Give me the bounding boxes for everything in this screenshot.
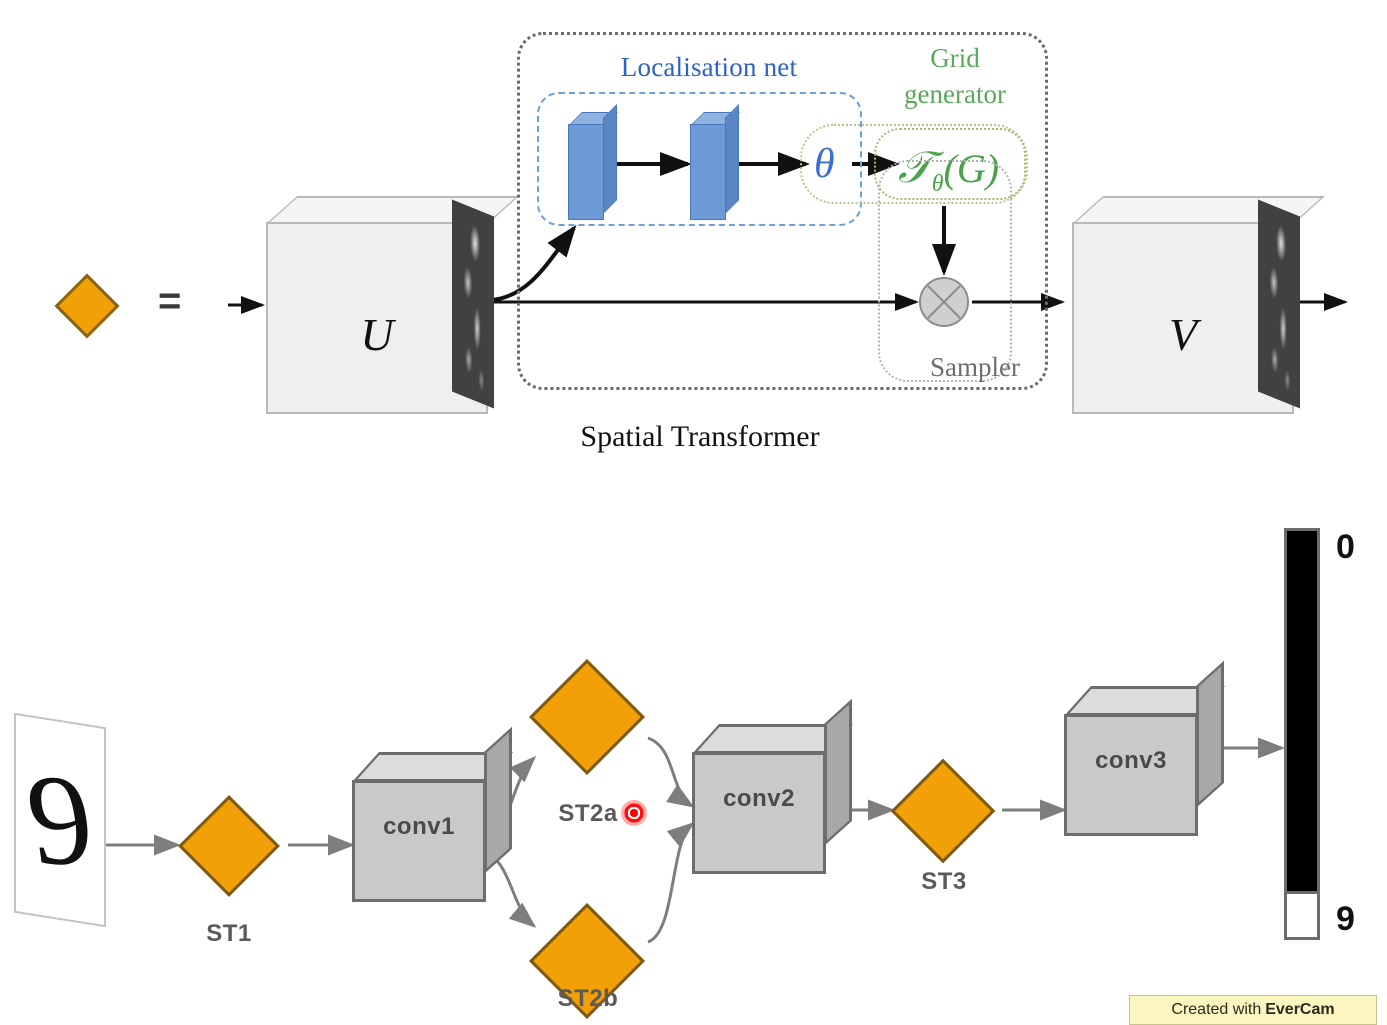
class-probability-bar	[1284, 528, 1320, 940]
node-st2a-label: ST2a	[545, 800, 631, 828]
grid-generator-title-line1: Grid	[880, 40, 1030, 76]
spatial-transformer-figure: = U	[0, 0, 1387, 480]
watermark-brand: EverCam	[1265, 1001, 1334, 1019]
multiply-circle-icon	[919, 277, 969, 327]
sampler-boundary	[878, 160, 1012, 382]
v-feature-map-side-face	[1258, 200, 1300, 409]
theta-symbol: θ	[814, 140, 835, 188]
localisation-conv-block-2	[690, 112, 726, 220]
node-conv2-cube[interactable]: conv2	[692, 724, 852, 874]
node-conv1-label: conv1	[352, 752, 486, 902]
grid-generator-title: Grid generator	[880, 40, 1030, 112]
block-side-face	[603, 104, 617, 214]
class-bar-top-label: 0	[1336, 528, 1355, 567]
localisation-net-title: Localisation net	[594, 52, 824, 83]
block-front-face	[568, 124, 604, 220]
network-pipeline-figure: 9 ST1 conv1 ST2a	[0, 480, 1387, 1018]
cube-side-face	[1196, 661, 1224, 808]
spatial-transformer-caption: Spatial Transformer	[480, 420, 920, 454]
red-click-indicator-icon	[621, 800, 647, 826]
block-side-face	[725, 104, 739, 214]
grid-generator-title-line2: generator	[880, 76, 1030, 112]
cube-side-face	[484, 727, 512, 874]
block-front-face	[690, 124, 726, 220]
u-feature-map-side-face	[452, 200, 494, 409]
node-conv2-label: conv2	[692, 724, 826, 874]
node-conv3-cube[interactable]: conv3	[1064, 686, 1224, 836]
predicted-class-highlight	[1287, 891, 1317, 937]
cube-side-face	[824, 699, 852, 846]
node-conv1-cube[interactable]: conv1	[352, 752, 512, 902]
sampler-label: Sampler	[900, 352, 1050, 383]
node-st2b-label: ST2b	[545, 985, 631, 1013]
watermark-prefix: Created with	[1171, 1001, 1261, 1019]
node-conv3-label: conv3	[1064, 686, 1198, 836]
class-bar-bottom-label: 9	[1336, 900, 1355, 939]
node-st1-label: ST1	[179, 920, 279, 948]
evercam-watermark: Created with EverCam	[1129, 995, 1377, 1025]
localisation-conv-block-1	[568, 112, 604, 220]
node-st3-label: ST3	[896, 868, 992, 896]
